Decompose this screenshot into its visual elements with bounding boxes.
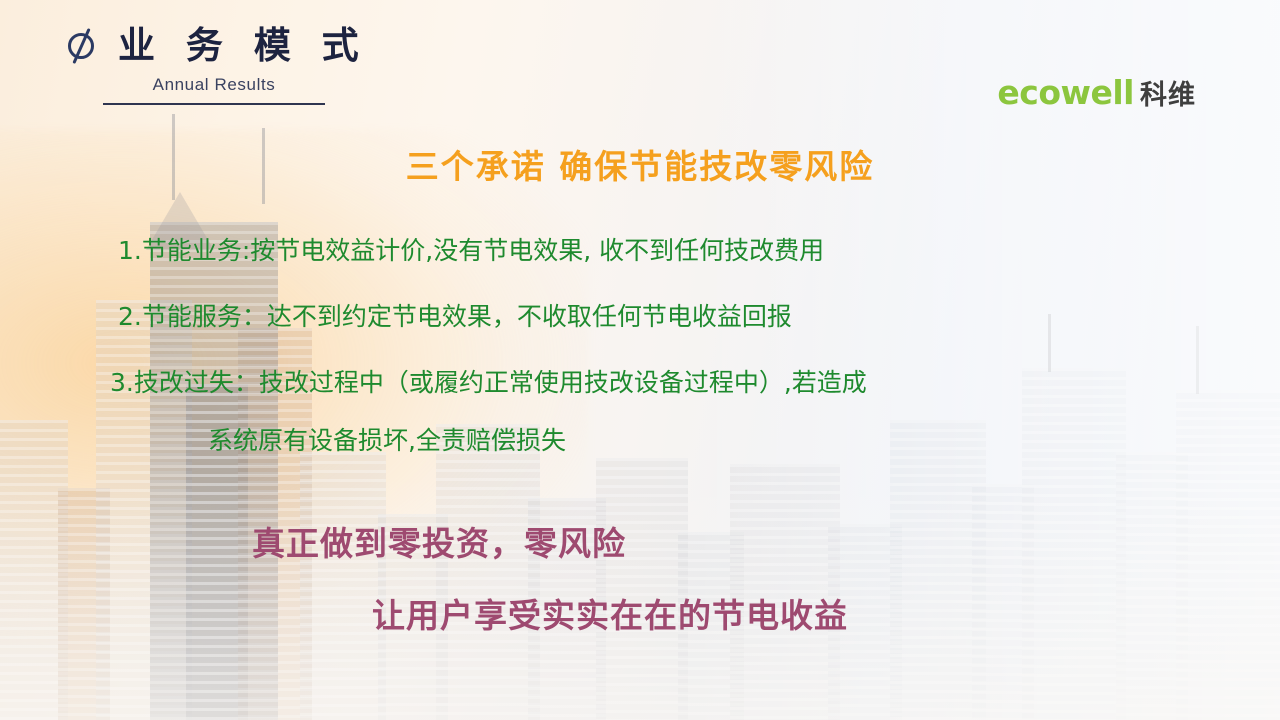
commitment-list: 1.节能业务:按节电效益计价,没有节电效果, 收不到任何技改费用 2.节能服务：… xyxy=(0,236,1280,456)
conclusion-block: 真正做到零投资，零风险 让用户享受实实在在的节电收益 xyxy=(0,524,1280,635)
list-item: 3.技改过失：技改过程中（或履约正常使用技改设备过程中）,若造成 xyxy=(110,368,1280,398)
conclusion-line: 让用户享受实实在在的节电收益 xyxy=(372,596,1280,636)
page-subtitle: Annual Results xyxy=(103,76,325,93)
slide-header: 业 务 模 式 Annual Results xyxy=(64,26,484,105)
brand-name-cn: 科维 xyxy=(1140,82,1196,109)
conclusion-line: 真正做到零投资，零风险 xyxy=(252,524,1280,564)
no-entry-slash-icon xyxy=(64,26,102,64)
section-headline: 三个承诺 确保节能技改零风险 xyxy=(0,146,1280,187)
list-item: 2.节能服务：达不到约定节电效果，不收取任何节电收益回报 xyxy=(118,302,1280,332)
list-item: 1.节能业务:按节电效益计价,没有节电效果, 收不到任何技改费用 xyxy=(118,236,1280,266)
list-item-continuation: 系统原有设备损坏,全责赔偿损失 xyxy=(208,426,1280,456)
header-title-row: 业 务 模 式 xyxy=(64,26,484,64)
header-subtitle-block: Annual Results xyxy=(103,76,325,105)
brand-name-en: ecowell xyxy=(997,76,1134,109)
header-divider xyxy=(103,103,325,105)
page-title: 业 务 模 式 xyxy=(118,27,368,64)
slide-canvas: 业 务 模 式 Annual Results ecowell 科维 三个承诺 确… xyxy=(0,0,1280,720)
brand-logo: ecowell 科维 xyxy=(997,76,1196,109)
